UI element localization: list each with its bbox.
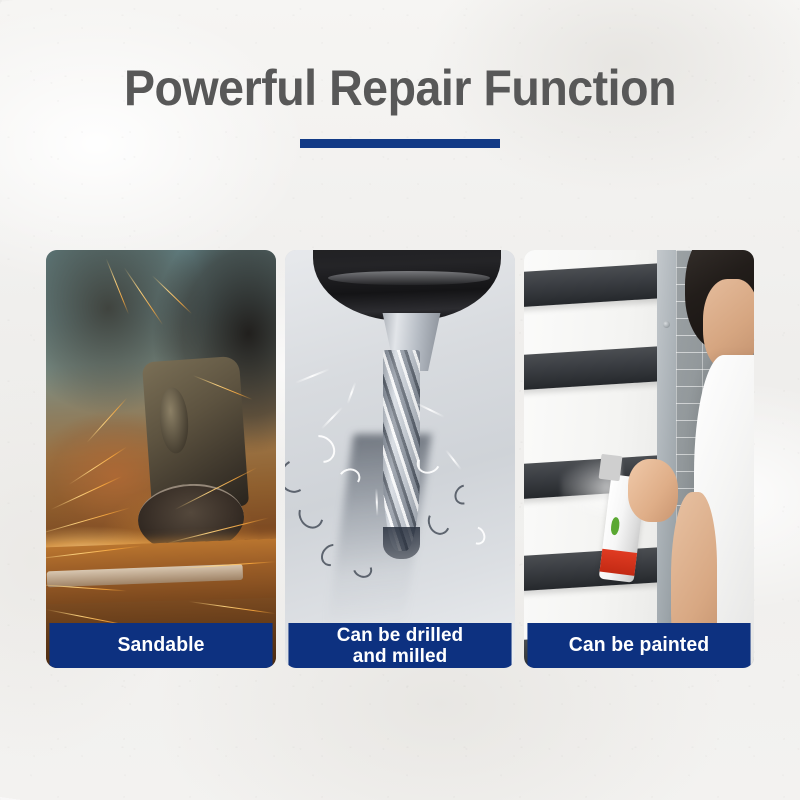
spray-nozzle-shape [598, 454, 622, 481]
card-label-text: Sandable [117, 635, 204, 656]
card-label-drilled-milled: Can be drilled and milled [288, 623, 511, 668]
metal-chips [285, 250, 515, 668]
card-label-painted: Can be painted [527, 623, 750, 668]
header: Powerful Repair Function [0, 0, 800, 148]
card-label-text: Can be drilled and milled [337, 625, 463, 666]
feature-card-painted[interactable]: Can be painted [524, 250, 754, 668]
feature-cards-row: Sandable [46, 250, 754, 668]
page-title: Powerful Repair Function [28, 0, 772, 115]
feature-card-drilled-milled[interactable]: Can be drilled and milled [285, 250, 515, 668]
recycling-icon [609, 516, 620, 535]
card-label-text: Can be painted [569, 635, 709, 656]
angle-grinder-sparks-photo [46, 250, 276, 668]
card-label-sandable: Sandable [49, 623, 272, 668]
person-hand-shape [628, 459, 679, 522]
spark-streaks [46, 250, 276, 668]
title-divider [300, 139, 500, 148]
spray-can-label-band [599, 549, 636, 576]
feature-card-sandable[interactable]: Sandable [46, 250, 276, 668]
drill-bit-milling-photo [285, 250, 515, 668]
spray-painting-photo [524, 250, 754, 668]
